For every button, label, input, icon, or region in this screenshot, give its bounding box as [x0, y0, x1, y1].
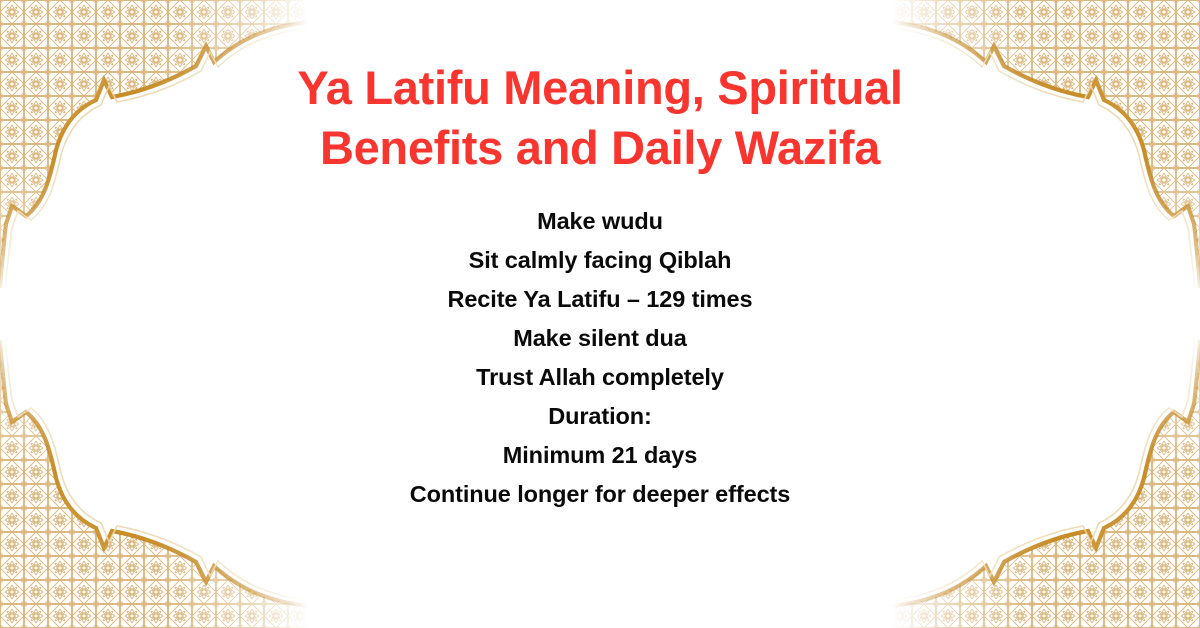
wazifa-steps-list: Make wudu Sit calmly facing Qiblah Recit… — [410, 202, 790, 514]
list-item: Continue longer for deeper effects — [410, 475, 790, 514]
list-item: Make wudu — [410, 202, 790, 241]
page-title: Ya Latifu Meaning, Spiritual Benefits an… — [60, 58, 1140, 178]
list-item: Trust Allah completely — [410, 358, 790, 397]
list-item: Recite Ya Latifu – 129 times — [410, 280, 790, 319]
list-item: Minimum 21 days — [410, 436, 790, 475]
list-item-duration-label: Duration: — [410, 397, 790, 436]
content-block: Ya Latifu Meaning, Spiritual Benefits an… — [0, 0, 1200, 514]
list-item: Sit calmly facing Qiblah — [410, 241, 790, 280]
list-item: Make silent dua — [410, 319, 790, 358]
banner-canvas: Ya Latifu Meaning, Spiritual Benefits an… — [0, 0, 1200, 628]
